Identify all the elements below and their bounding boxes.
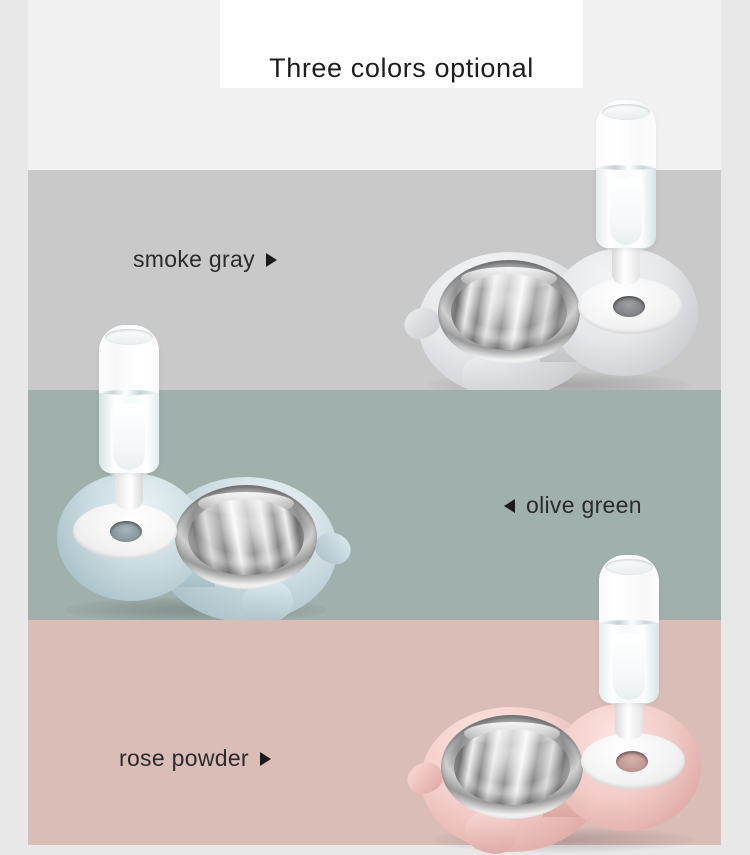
variant-label-text: olive green — [526, 492, 642, 519]
variant-label-olive-green[interactable]: olive green — [504, 492, 642, 519]
right-triangle-icon — [260, 752, 271, 766]
water-outlet-hole — [613, 296, 645, 317]
product-image-rose-powder — [413, 555, 713, 855]
stainless-steel-bowl — [175, 485, 317, 589]
product-image-olive-green — [45, 325, 345, 625]
bottle-water — [596, 168, 656, 248]
product-image-smoke-gray — [410, 100, 710, 400]
bottle-inner-tube — [113, 404, 144, 470]
bottle-inner-tube — [610, 179, 641, 245]
bottle-water — [599, 623, 659, 703]
water-outlet-hole — [616, 751, 648, 772]
bottle-valve — [615, 697, 643, 739]
product-color-options-page: Three colors optional smoke gray — [0, 0, 750, 855]
bottle-water — [99, 393, 159, 473]
water-outlet-hole — [110, 521, 142, 542]
title-card: Three colors optional — [220, 0, 583, 88]
stainless-steel-bowl — [438, 260, 580, 364]
bottle-cap — [105, 329, 153, 345]
variant-label-text: rose powder — [119, 745, 249, 772]
variant-label-smoke-gray[interactable]: smoke gray — [133, 246, 277, 273]
water-bottle — [596, 100, 656, 248]
stainless-steel-bowl — [441, 715, 583, 819]
left-triangle-icon — [504, 499, 515, 513]
water-bottle — [599, 555, 659, 703]
bottle-cap — [602, 104, 650, 120]
page-title: Three colors optional — [269, 55, 534, 88]
water-bottle — [99, 325, 159, 473]
variant-label-text: smoke gray — [133, 246, 255, 273]
bottle-valve — [115, 467, 143, 509]
bottle-cap — [605, 559, 653, 575]
variant-label-rose-powder[interactable]: rose powder — [119, 745, 271, 772]
bottle-valve — [612, 242, 640, 284]
right-triangle-icon — [266, 253, 277, 267]
bottle-inner-tube — [613, 634, 644, 700]
